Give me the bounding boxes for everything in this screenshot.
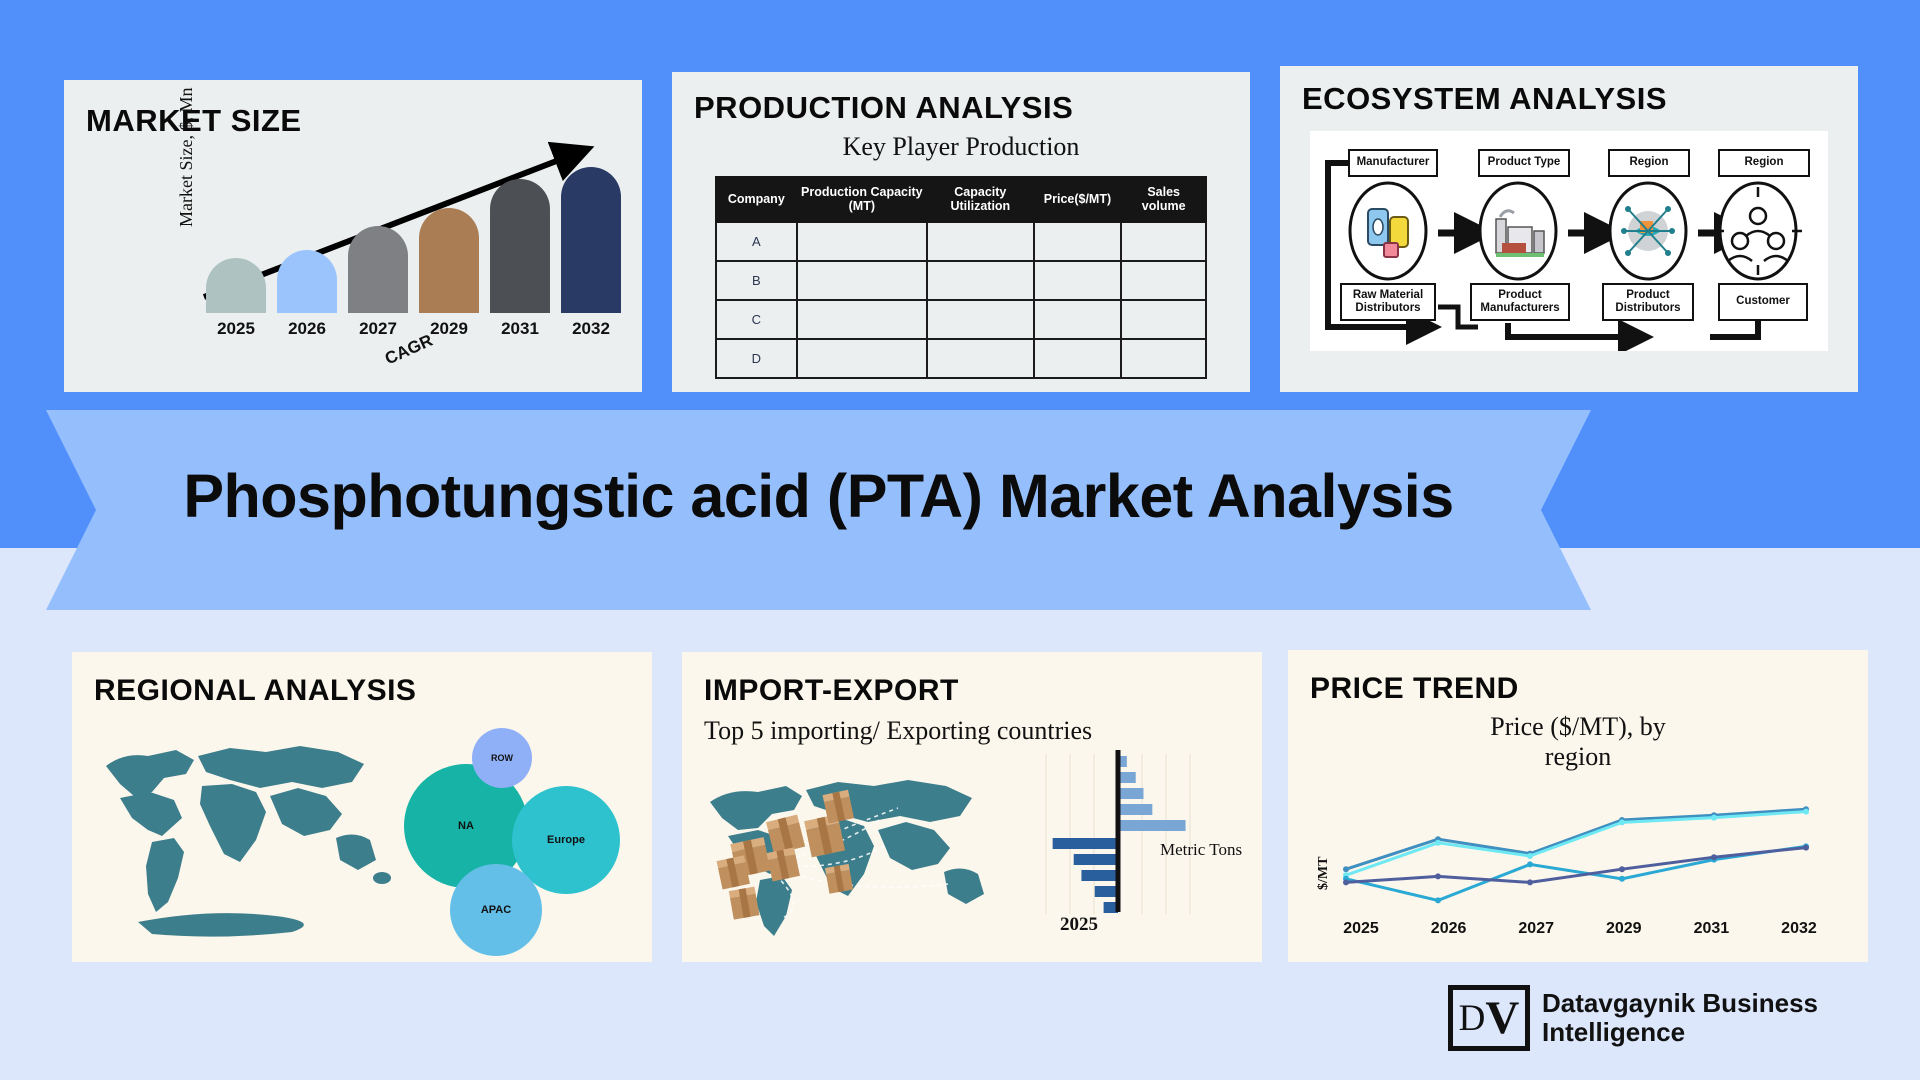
panel-ecosystem-analysis: ECOSYSTEM ANALYSIS xyxy=(1280,66,1858,392)
table-cell xyxy=(927,300,1034,339)
production-analysis-subtitle: Key Player Production xyxy=(672,132,1250,162)
price-point xyxy=(1619,819,1625,825)
panel-price-trend: PRICE TREND Price ($/MT), by region $/MT… xyxy=(1288,650,1868,962)
export-bar xyxy=(1118,804,1152,815)
bar-label: 2031 xyxy=(501,319,539,339)
bar xyxy=(277,250,337,313)
import-export-butterfly-chart xyxy=(1030,746,1210,926)
price-line-region-4 xyxy=(1346,848,1806,883)
page-title: Phosphotungstic acid (PTA) Market Analys… xyxy=(183,461,1453,559)
table-col-header: Capacity Utilization xyxy=(927,177,1034,222)
table-col-header: Sales volume xyxy=(1121,177,1206,222)
price-point xyxy=(1619,866,1625,872)
world-map-icon xyxy=(90,726,400,946)
bubble-apac-label: APAC xyxy=(481,904,511,916)
price-trend-subtitle-line2: region xyxy=(1288,742,1868,772)
price-x-tick: 2029 xyxy=(1593,920,1655,938)
ecosystem-bottom-label-3: Customer xyxy=(1718,283,1808,321)
import-bar xyxy=(1081,870,1118,881)
table-cell xyxy=(1034,300,1122,339)
table-cell xyxy=(797,300,927,339)
butterfly-chart-year: 2025 xyxy=(1060,914,1098,936)
bar xyxy=(348,226,408,313)
price-x-tick: 2032 xyxy=(1768,920,1830,938)
table-cell xyxy=(1034,339,1122,378)
price-point xyxy=(1343,866,1349,872)
export-bar xyxy=(1118,788,1143,799)
ecosystem-top-label-2: Region xyxy=(1608,149,1690,177)
price-trend-subtitle-line1: Price ($/MT), by xyxy=(1288,712,1868,742)
bubble-na-label: NA xyxy=(458,820,474,832)
table-cell xyxy=(797,261,927,300)
table-cell xyxy=(927,339,1034,378)
import-export-body: Metric Tons 2025 xyxy=(682,746,1262,946)
market-size-chart: Market Size, $, Mn CAGR 2025202620272029… xyxy=(64,139,642,369)
price-point xyxy=(1711,854,1717,860)
price-point xyxy=(1803,809,1809,815)
table-body: ABCD xyxy=(716,222,1206,378)
table-cell xyxy=(927,222,1034,261)
import-bar xyxy=(1053,838,1118,849)
metric-tons-axis-label: Metric Tons xyxy=(1160,840,1242,860)
bar-label: 2027 xyxy=(359,319,397,339)
market-size-bar-2026: 2026 xyxy=(277,250,337,339)
price-trend-x-axis: 202520262027202920312032 xyxy=(1330,920,1830,938)
table-row: B xyxy=(716,261,1206,300)
ecosystem-top-label-1: Product Type xyxy=(1478,149,1570,177)
bar xyxy=(490,179,550,313)
dv-logo-mark-icon: D V xyxy=(1448,985,1530,1051)
ecosystem-analysis-title: ECOSYSTEM ANALYSIS xyxy=(1302,81,1858,117)
table-cell xyxy=(797,222,927,261)
ecosystem-bottom-label-2: Product Distributors xyxy=(1602,283,1694,321)
logo-letter-v: V xyxy=(1485,991,1519,1045)
bar xyxy=(561,167,621,313)
table-cell xyxy=(1121,261,1206,300)
price-point xyxy=(1619,876,1625,882)
table-cell xyxy=(1121,339,1206,378)
ecosystem-top-label-3: Region xyxy=(1718,149,1810,177)
table-col-header: Price($/MT) xyxy=(1034,177,1122,222)
export-bar xyxy=(1118,772,1136,783)
import-bar xyxy=(1074,854,1118,865)
table-cell: B xyxy=(716,261,797,300)
export-bar xyxy=(1118,820,1186,831)
table-col-header: Production Capacity (MT) xyxy=(797,177,927,222)
trade-route-map-icon xyxy=(702,756,1022,946)
table-col-header: Company xyxy=(716,177,797,222)
bar-label: 2026 xyxy=(288,319,326,339)
price-x-tick: 2031 xyxy=(1680,920,1742,938)
regional-analysis-title: REGIONAL ANALYSIS xyxy=(94,674,652,708)
price-point xyxy=(1435,840,1441,846)
price-x-tick: 2025 xyxy=(1330,920,1392,938)
table-row: D xyxy=(716,339,1206,378)
table-cell xyxy=(1121,222,1206,261)
table-cell xyxy=(1034,222,1122,261)
table-row: A xyxy=(716,222,1206,261)
panel-import-export: IMPORT-EXPORT Top 5 importing/ Exporting… xyxy=(682,652,1262,962)
market-size-bar-2027: 2027 xyxy=(348,226,408,339)
panel-regional-analysis: REGIONAL ANALYSIS NA Europe APAC ROW xyxy=(72,652,652,962)
bubble-row-label: ROW xyxy=(491,753,513,763)
panel-market-size: MARKET SIZE Market Size, $, Mn CAGR 2025… xyxy=(64,80,642,392)
market-size-title: MARKET SIZE xyxy=(86,103,642,139)
price-point xyxy=(1803,845,1809,851)
bubble-europe-label: Europe xyxy=(547,834,585,846)
market-size-bar-2032: 2032 xyxy=(561,167,621,339)
market-size-bar-2029: 2029 xyxy=(419,208,479,339)
ecosystem-diagram: ManufacturerProduct TypeRegionRegionRaw … xyxy=(1310,131,1828,351)
logo-letter-d: D xyxy=(1459,997,1486,1040)
company-logo: D V Datavgaynik Business Intelligence xyxy=(1448,985,1818,1051)
company-name-line2: Intelligence xyxy=(1542,1018,1818,1047)
table-cell: A xyxy=(716,222,797,261)
ecosystem-top-label-0: Manufacturer xyxy=(1348,149,1438,177)
bubble-row: ROW xyxy=(472,728,532,788)
bar-label: 2032 xyxy=(572,319,610,339)
price-x-tick: 2027 xyxy=(1505,920,1567,938)
company-name-line1: Datavgaynik Business xyxy=(1542,989,1818,1018)
price-point xyxy=(1527,879,1533,885)
price-line-region-2 xyxy=(1346,812,1806,876)
regional-analysis-body: NA Europe APAC ROW xyxy=(72,708,652,958)
price-trend-title: PRICE TREND xyxy=(1310,672,1868,706)
bar xyxy=(206,258,266,313)
table-cell xyxy=(927,261,1034,300)
bar xyxy=(419,208,479,313)
market-size-bar-2031: 2031 xyxy=(490,179,550,339)
price-trend-body: $/MT 202520262027202920312032 xyxy=(1288,772,1868,962)
price-point xyxy=(1343,879,1349,885)
panel-production-analysis: PRODUCTION ANALYSIS Key Player Productio… xyxy=(672,72,1250,392)
bar-label: 2029 xyxy=(430,319,468,339)
price-point xyxy=(1435,873,1441,879)
price-x-tick: 2026 xyxy=(1418,920,1480,938)
market-size-bar-2025: 2025 xyxy=(206,258,266,339)
table-cell xyxy=(1121,300,1206,339)
bar-label: 2025 xyxy=(217,319,255,339)
import-export-title: IMPORT-EXPORT xyxy=(704,674,1262,708)
table-header-row: CompanyProduction Capacity (MT)Capacity … xyxy=(716,177,1206,222)
ecosystem-bottom-label-0: Raw Material Distributors xyxy=(1340,283,1436,321)
bubble-apac: APAC xyxy=(450,864,542,956)
table-cell: C xyxy=(716,300,797,339)
price-point xyxy=(1527,853,1533,859)
market-size-y-axis-label: Market Size, $, Mn xyxy=(176,88,197,227)
key-player-production-table: CompanyProduction Capacity (MT)Capacity … xyxy=(715,176,1207,379)
table-cell xyxy=(1034,261,1122,300)
price-trend-line-chart xyxy=(1328,790,1828,930)
company-name: Datavgaynik Business Intelligence xyxy=(1542,989,1818,1047)
import-bar xyxy=(1095,886,1118,897)
import-export-subtitle: Top 5 importing/ Exporting countries xyxy=(704,716,1262,746)
price-point xyxy=(1527,861,1533,867)
table-cell xyxy=(797,339,927,378)
price-point xyxy=(1711,815,1717,821)
main-title-banner: Phosphotungstic acid (PTA) Market Analys… xyxy=(46,410,1591,610)
production-analysis-title: PRODUCTION ANALYSIS xyxy=(694,90,1250,126)
ecosystem-bottom-label-1: Product Manufacturers xyxy=(1470,283,1570,321)
market-size-bars: 202520262027202920312032 xyxy=(206,149,636,339)
table-cell: D xyxy=(716,339,797,378)
price-point xyxy=(1435,897,1441,903)
table-row: C xyxy=(716,300,1206,339)
